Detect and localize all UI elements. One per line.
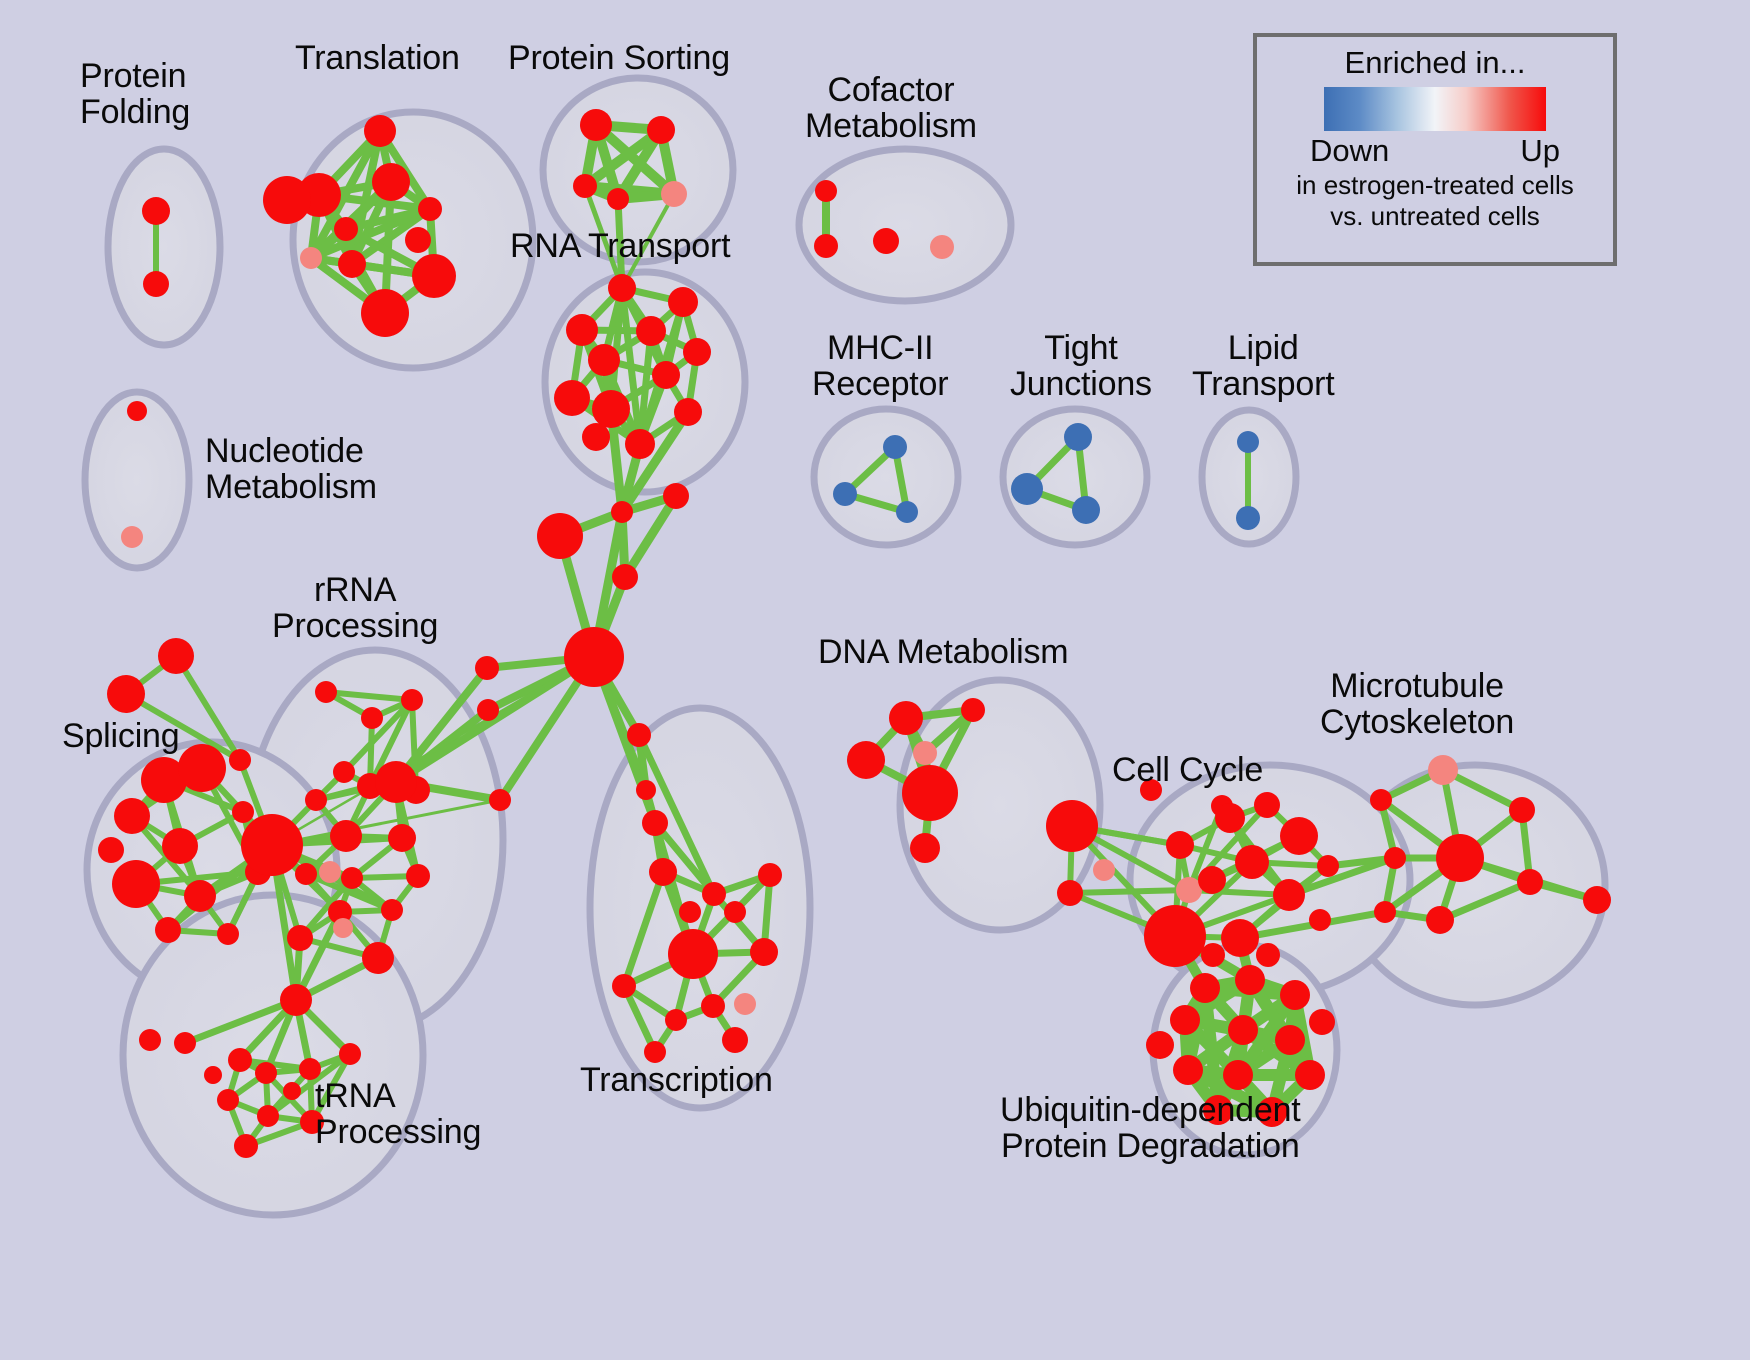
hull-cofactor	[799, 149, 1011, 301]
legend-low-label: Down	[1310, 133, 1389, 169]
cluster-label-microtubule-cytoskeleton: Microtubule Cytoskeleton	[1320, 668, 1514, 740]
cluster-label-splicing: Splicing	[62, 718, 179, 754]
cluster-label-cell-cycle: Cell Cycle	[1112, 752, 1263, 788]
cluster-label-transcription: Transcription	[580, 1062, 773, 1098]
cluster-label-nucleotide-metabolism: Nucleotide Metabolism	[205, 433, 377, 505]
cluster-label-cofactor-metabolism: Cofactor Metabolism	[805, 72, 977, 144]
legend-title: Enriched in...	[1345, 45, 1526, 81]
hull-mhc	[814, 409, 958, 545]
network-figure: Protein Folding Translation Protein Sort…	[0, 0, 1750, 1360]
cluster-label-protein-folding: Protein Folding	[80, 58, 190, 130]
cluster-label-ubiquitin-protein-degradation: Ubiquitin-dependent Protein Degradation	[1000, 1092, 1301, 1164]
cluster-label-rrna-processing: rRNA Processing	[272, 572, 438, 644]
cluster-label-trna-processing: tRNA Processing	[315, 1078, 481, 1150]
cluster-label-lipid-transport: Lipid Transport	[1192, 330, 1334, 402]
legend: Enriched in... Down Up in estrogen-treat…	[1253, 33, 1617, 266]
cluster-label-protein-sorting: Protein Sorting	[508, 40, 730, 76]
hull-protein-folding	[108, 149, 220, 345]
legend-high-label: Up	[1520, 133, 1560, 169]
cluster-label-tight-junctions: Tight Junctions	[1010, 330, 1152, 402]
cluster-label-mhc-ii-receptor: MHC-II Receptor	[812, 330, 948, 402]
cluster-label-dna-metabolism: DNA Metabolism	[818, 634, 1068, 670]
cluster-label-translation: Translation	[295, 40, 460, 76]
legend-caption-line2: vs. untreated cells	[1330, 202, 1540, 231]
cluster-label-rna-transport: RNA Transport	[510, 228, 730, 264]
legend-endpoints: Down Up	[1310, 133, 1560, 169]
legend-caption-line1: in estrogen-treated cells	[1296, 171, 1573, 200]
legend-colorbar	[1324, 87, 1546, 131]
